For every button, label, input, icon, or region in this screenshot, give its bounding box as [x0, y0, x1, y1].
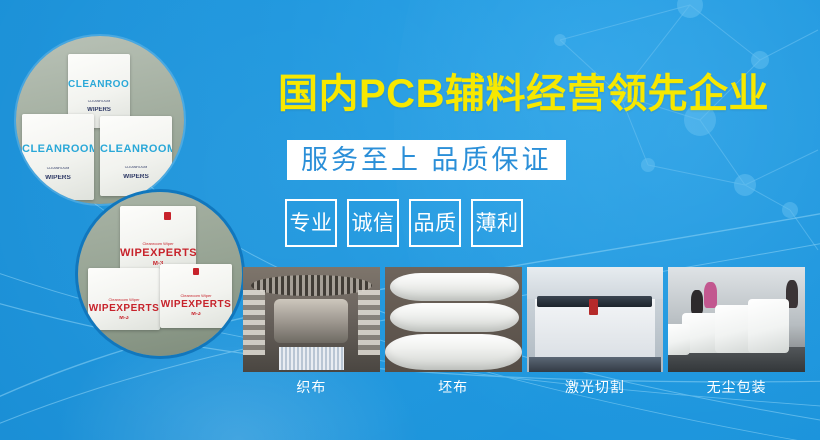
- banner-headline: 国内PCB辅料经营领先企业: [278, 74, 788, 114]
- process-photo-strip: 织布 坯布 激光切割: [243, 267, 805, 394]
- fabric-roll: [385, 334, 522, 370]
- banner-subtitle-band: 服务至上 品质保证: [287, 140, 566, 180]
- feature-tag-label: 诚信: [352, 213, 395, 234]
- carton-brand-label: WIPEXPERTS: [120, 248, 196, 259]
- carton-wipers-label: WIPERS: [68, 107, 130, 113]
- promotional-banner: CLEANROOM CLEANROOM WIPERS CLEANROOM CLE…: [0, 0, 820, 440]
- feature-tag-professional: 专业: [285, 199, 337, 247]
- packed-bale: [668, 324, 690, 356]
- process-caption: 无尘包装: [668, 380, 805, 394]
- process-step-laser-cutting: 激光切割: [527, 267, 664, 394]
- fabric-roll: [390, 303, 519, 332]
- carton-brand-label: CLEANROOM: [100, 144, 172, 155]
- laser-head: [589, 299, 598, 315]
- carton-subline-label: Cleanroom Wiper: [88, 298, 160, 302]
- product-image-cleanroom: CLEANROOM CLEANROOM WIPERS CLEANROOM CLE…: [16, 36, 184, 204]
- feature-tag-low-margin: 薄利: [471, 199, 523, 247]
- process-photo-fabric-rolls: [385, 267, 522, 372]
- carton-wipexperts-right: Cleanroom Wiper WIPEXPERTS M-3: [160, 264, 232, 328]
- worker-figure: [691, 290, 703, 314]
- carton-cleanroom-left: CLEANROOM CLEANROOM WIPERS: [22, 114, 94, 200]
- feature-tag-integrity: 诚信: [347, 199, 399, 247]
- knitting-drum: [274, 299, 348, 343]
- carton-brand-label: CLEANROOM: [22, 144, 94, 155]
- red-stamp-mark: [193, 268, 199, 275]
- needle-ring-detail: [251, 275, 371, 296]
- process-caption: 坯布: [385, 380, 522, 394]
- feature-tag-label: 薄利: [476, 213, 519, 234]
- process-caption: 激光切割: [527, 380, 664, 394]
- carton-wipers-label: WIPERS: [22, 175, 94, 182]
- process-step-cleanroom-packaging: 无尘包装: [668, 267, 805, 394]
- carton-subline-label: CLEANROOM: [22, 167, 94, 171]
- carton-wipers-label: WIPERS: [100, 174, 172, 181]
- carton-brand-label: WIPEXPERTS: [160, 300, 232, 310]
- feature-tag-list: 专业 诚信 品质 薄利: [285, 199, 523, 247]
- red-stamp-mark: [164, 212, 171, 220]
- feature-tag-quality: 品质: [409, 199, 461, 247]
- process-step-greige-fabric: 坯布: [385, 267, 522, 394]
- machine-frame: [529, 357, 660, 372]
- process-photo-knitting-machine: [243, 267, 380, 372]
- carton-model-label: M-3: [88, 316, 160, 322]
- carton-subline-label: Cleanroom Wiper: [160, 294, 232, 298]
- carton-brand-label: CLEANROOM: [68, 80, 130, 90]
- carton-model-label: M-3: [160, 312, 232, 318]
- product-image-wipexperts: Cleanroom Wiper WIPEXPERTS M-3 Cleanroom…: [78, 192, 242, 356]
- yarn-rack-left: [243, 290, 265, 355]
- process-photo-laser-cutter: [527, 267, 664, 372]
- carton-subline-label: CLEANROOM: [100, 166, 172, 170]
- worker-figure: [704, 282, 717, 308]
- carton-brand-label: WIPEXPERTS: [88, 304, 160, 314]
- carton-subline-label: Cleanroom Wiper: [120, 242, 196, 246]
- carton-subline-label: CLEANROOM: [68, 100, 130, 104]
- carton-cleanroom-right: CLEANROOM CLEANROOM WIPERS: [100, 116, 172, 196]
- carton-wipexperts-left: Cleanroom Wiper WIPEXPERTS M-3: [88, 268, 160, 330]
- carton-wipexperts-top: Cleanroom Wiper WIPEXPERTS M-3: [120, 206, 196, 272]
- banner-subtitle: 服务至上 品质保证: [301, 147, 552, 174]
- workshop-wall: [527, 267, 664, 299]
- process-step-weaving: 织布: [243, 267, 380, 394]
- feature-tag-label: 品质: [414, 213, 457, 234]
- fabric-output: [279, 347, 345, 370]
- process-photo-packaging: [668, 267, 805, 372]
- yarn-rack-right: [358, 290, 380, 355]
- process-caption: 织布: [243, 380, 380, 394]
- packed-bale: [748, 299, 789, 354]
- feature-tag-label: 专业: [290, 213, 333, 234]
- fabric-roll: [390, 273, 519, 300]
